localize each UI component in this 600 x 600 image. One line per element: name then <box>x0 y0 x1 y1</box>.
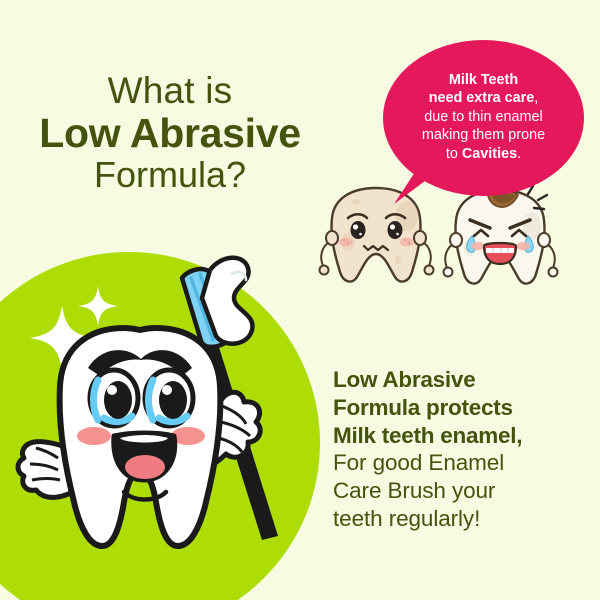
page-title: What is Low Abrasive Formula? <box>0 72 340 194</box>
copy-line-4: For good Enamel <box>333 449 585 477</box>
bubble-line-5-bold: Cavities <box>462 146 517 162</box>
mascot-right-eye <box>145 370 193 426</box>
bubble-line-5-lead: to <box>446 146 462 162</box>
mascot-left-eye <box>90 370 138 426</box>
copy-line-3: Milk teeth enamel, <box>333 422 585 450</box>
bubble-line-3: due to thin enamel <box>424 109 542 125</box>
bubble-line-4: making them prone <box>422 127 545 143</box>
headline-line-3: Formula? <box>0 156 340 193</box>
copy-line-5: Care Brush your <box>333 477 585 505</box>
headline-line-1: What is <box>0 72 340 110</box>
body-copy: Low Abrasive Formula protects Milk teeth… <box>333 366 585 533</box>
infographic-poster: What is Low Abrasive Formula? Milk Teeth… <box>0 0 600 600</box>
copy-line-1: Low Abrasive <box>333 366 585 394</box>
happy-tooth-mascot-illustration <box>6 240 306 570</box>
copy-line-6: teeth regularly! <box>333 505 585 533</box>
bubble-line-5-period: . <box>517 146 521 162</box>
mascot-mouth <box>114 433 175 480</box>
crying-cavity-tooth <box>444 186 558 284</box>
bubble-line-2: need extra care <box>429 90 535 106</box>
bubble-line-1: Milk Teeth <box>449 72 518 88</box>
mascot-left-cheek <box>77 427 111 445</box>
speech-bubble-text: Milk Teeth need extra care, due to thin … <box>393 71 575 165</box>
bubble-line-2-comma: , <box>534 90 538 106</box>
mascot-tooth-body <box>60 328 221 546</box>
speech-bubble: Milk Teeth need extra care, due to thin … <box>383 40 584 196</box>
copy-line-2: Formula protects <box>333 394 585 422</box>
headline-line-2: Low Abrasive <box>0 112 340 155</box>
sparkle-small-icon <box>78 286 118 326</box>
